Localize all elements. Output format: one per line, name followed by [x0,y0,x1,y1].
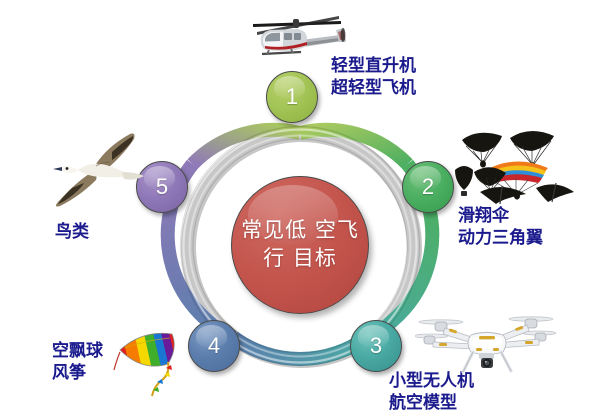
cycle-node-4-label: 空飘球 风筝 [52,341,103,385]
cycle-node-5-label: 鸟类 [55,222,89,244]
quadcopter-drone-icon [415,302,557,380]
bird-icon [38,128,152,216]
cycle-node-2[interactable]: 2 [402,161,454,213]
cycle-diagram-canvas: 常见低 空飞行 目标 1 2 3 4 5 轻型直升机 超轻型飞机 滑翔伞 动力三… [0,0,600,417]
kite-icon [112,318,200,400]
cycle-node-3-number: 3 [370,335,382,357]
center-hub-text: 常见低 空飞行 目标 [232,217,368,272]
cycle-node-5-number: 5 [156,176,168,198]
cycle-node-3[interactable]: 3 [350,320,402,372]
cycle-node-1[interactable]: 1 [266,71,318,123]
cycle-node-2-label: 滑翔伞 动力三角翼 [458,206,543,250]
ring-segment-1-2 [300,130,408,164]
ring-segment-3-4 [234,337,367,359]
paraglider-icon [448,124,596,208]
cycle-node-2-number: 2 [422,176,434,198]
helicopter-icon [243,2,351,64]
ring-segment-5-1 [193,130,301,164]
center-hub: 常见低 空飞行 目标 [231,176,369,314]
cycle-node-4-number: 4 [208,335,220,357]
cycle-node-1-number: 1 [286,86,298,108]
